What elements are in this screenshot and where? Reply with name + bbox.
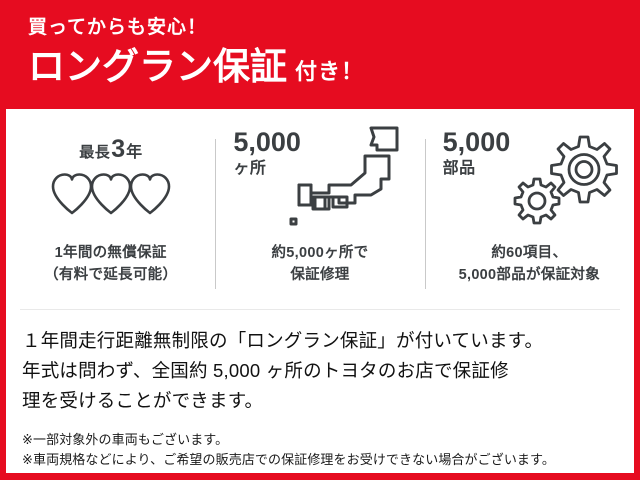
body-line-1: １年間走行距離無制限の「ロングラン保証」が付いています。: [22, 326, 618, 356]
feature-row: 最長 3 年 1年間の無償保証 （有料で延長可能）: [6, 109, 634, 309]
poster-header: 買ってからも安心！ ロングラン保証 付き！: [6, 0, 634, 109]
content-card: 最長 3 年 1年間の無償保証 （有料で延長可能）: [6, 109, 634, 473]
footnote-2: ※車両規格などにより、ご希望の販売店での保証修理をお受けできない場合がございます…: [22, 450, 618, 470]
feature-1-label-big: 3: [111, 137, 125, 162]
feature-1-label-small: 最長: [79, 145, 110, 160]
three-hearts-icon: [50, 170, 172, 221]
feature-covered-parts: 5,000 部品: [425, 123, 634, 309]
headline-sub-text: 付き！: [295, 61, 364, 83]
feature-1-caption-line1: 1年間の無償保証: [44, 243, 177, 265]
footnote-1: ※一部対象外の車両もございます。: [22, 430, 618, 450]
feature-3-caption: 約60項目、 5,000部品が保証対象: [459, 243, 600, 287]
warranty-poster: 買ってからも安心！ ロングラン保証 付き！ 最長 3 年: [0, 0, 640, 480]
body-description: １年間走行距離無制限の「ロングラン保証」が付いています。 年式は問わず、全国約 …: [6, 310, 634, 416]
japan-map-icon: [285, 123, 403, 240]
feature-2-graphic: 5,000 ヶ所: [215, 123, 424, 241]
feature-3-unit: 部品: [443, 161, 511, 177]
feature-1-caption: 1年間の無償保証 （有料で延長可能）: [44, 243, 177, 287]
feature-1-label-unit: 年: [126, 145, 142, 161]
feature-warranty-period: 最長 3 年 1年間の無償保証 （有料で延長可能）: [6, 123, 215, 309]
feature-3-number: 5,000: [443, 129, 511, 156]
feature-1-graphic: 最長 3 年: [6, 123, 215, 241]
feature-service-locations: 5,000 ヶ所: [215, 123, 424, 309]
footnotes: ※一部対象外の車両もございます。 ※車両規格などにより、ご希望の販売店での保証修…: [6, 416, 634, 470]
feature-2-caption-line1: 約5,000ヶ所で: [271, 243, 368, 265]
body-line-2: 年式は問わず、全国約 5,000 ヶ所のトヨタのお店で保証修: [22, 356, 618, 386]
feature-1-label: 最長 3 年: [79, 137, 142, 162]
feature-3-label: 5,000 部品: [443, 129, 511, 177]
headline-main-text: ロングラン保証: [28, 48, 287, 85]
feature-1-caption-line2: （有料で延長可能）: [44, 265, 177, 287]
feature-2-caption-line2: 保証修理: [271, 265, 368, 287]
header-tagline: 買ってからも安心！: [28, 18, 634, 37]
feature-3-caption-line2: 5,000部品が保証対象: [459, 265, 600, 287]
feature-3-caption-line1: 約60項目、: [459, 243, 600, 265]
feature-2-caption: 約5,000ヶ所で 保証修理: [271, 243, 368, 287]
header-headline: ロングラン保証 付き！: [28, 48, 634, 85]
feature-3-graphic: 5,000 部品: [425, 123, 634, 241]
body-line-3: 理を受けることができます。: [22, 386, 618, 416]
gears-icon: [508, 129, 620, 238]
